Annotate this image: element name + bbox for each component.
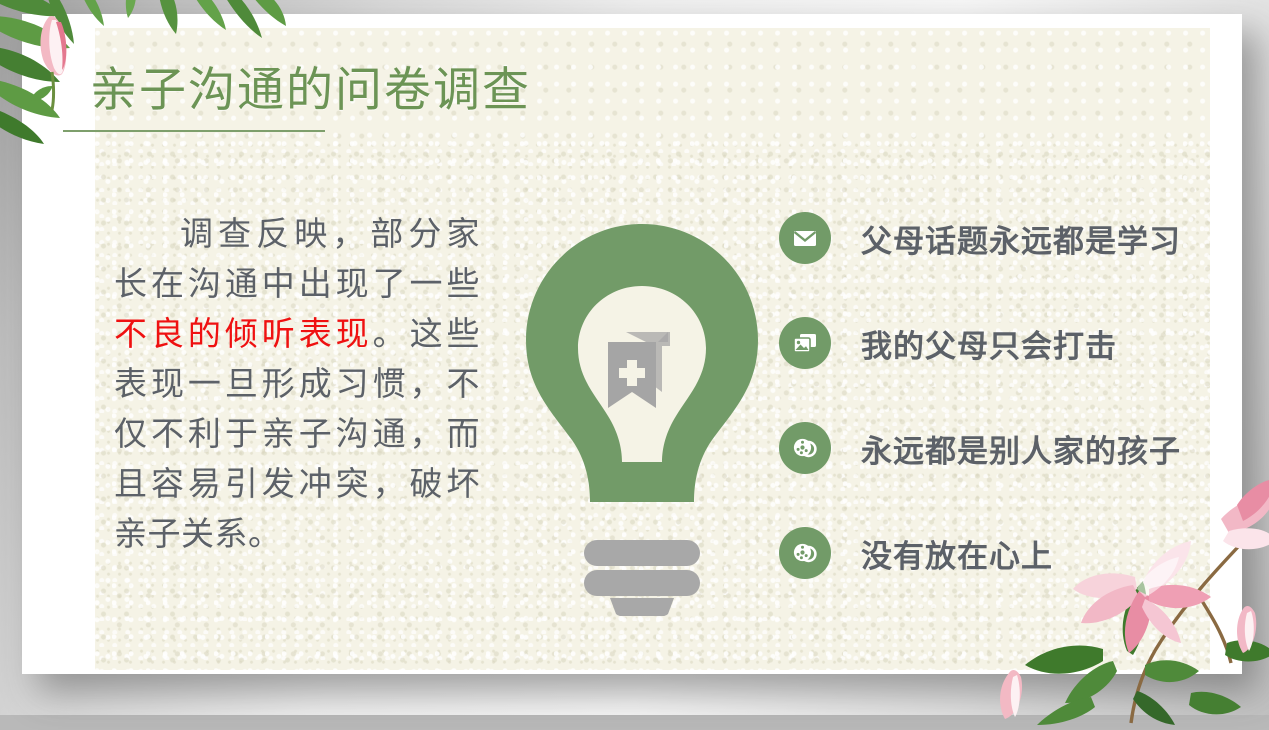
lightbulb-graphic xyxy=(502,196,782,616)
magnolia-bud-left xyxy=(1000,670,1022,719)
slide-card-frame: 亲子沟通的问卷调查 调查反映，部分家长在沟通中出现了一些不良的倾听表现。这些表现… xyxy=(22,14,1242,674)
envelope-icon xyxy=(779,212,831,264)
list-item-label: 我的父母只会打击 xyxy=(861,321,1117,366)
body-text-part1: 调查反映，部分家长在沟通中出现了一些 xyxy=(114,217,480,303)
list-item[interactable]: 我的父母只会打击 xyxy=(779,315,1209,371)
list-item-label: 父母话题永远都是学习 xyxy=(861,216,1181,261)
list-item[interactable]: 父母话题永远都是学习 xyxy=(779,210,1209,266)
film-reel-icon xyxy=(779,527,831,579)
list-item-label: 没有放在心上 xyxy=(861,531,1053,576)
feature-list: 父母话题永远都是学习 我的父母只会打击 xyxy=(779,210,1209,581)
list-item[interactable]: 永远都是别人家的孩子 xyxy=(779,420,1209,476)
list-item[interactable]: 没有放在心上 xyxy=(779,525,1209,581)
body-paragraph: 调查反映，部分家长在沟通中出现了一些不良的倾听表现。这些表现一旦形成习惯，不仅不… xyxy=(114,210,480,560)
body-text-highlight: 不良的倾听表现 xyxy=(114,317,373,353)
title-underline-rule xyxy=(63,130,325,132)
photos-stack-icon xyxy=(779,317,831,369)
slide-root: 亲子沟通的问卷调查 调查反映，部分家长在沟通中出现了一些不良的倾听表现。这些表现… xyxy=(0,0,1269,715)
page-title: 亲子沟通的问卷调查 xyxy=(90,66,531,113)
lightbulb-base xyxy=(584,540,700,616)
list-item-label: 永远都是别人家的孩子 xyxy=(861,426,1181,471)
film-reel-icon xyxy=(779,422,831,474)
